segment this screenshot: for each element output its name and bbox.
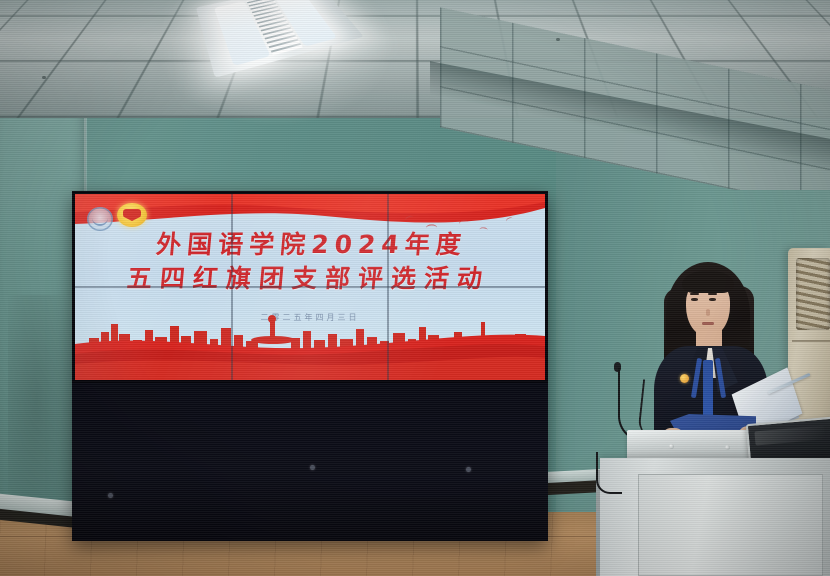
panel-indicator-led (108, 493, 113, 498)
ceiling-fixture-dot (42, 76, 46, 79)
video-wall[interactable]: 外国语学院2024年度 五四红旗团支部评选活动 二零二五年四月三日 (72, 191, 548, 541)
panel-indicator-led (310, 465, 315, 470)
lapel-pin-icon (680, 374, 689, 383)
lanyard (703, 360, 713, 422)
eyebrow-left (690, 293, 699, 295)
podium-body[interactable] (600, 458, 830, 576)
panel-indicator-led (466, 467, 471, 472)
ac-vent-grille-icon (796, 258, 830, 330)
power-cable (596, 452, 622, 494)
communist-youth-league-emblem-icon (117, 203, 147, 227)
nose (706, 309, 710, 316)
bezel-seam-horizontal (75, 286, 545, 288)
slide-title-line2: 五四红旗团支部评选活动 (75, 262, 545, 296)
bird-icon (459, 220, 468, 227)
eye-right (709, 298, 716, 301)
ceiling-area (0, 0, 830, 190)
ac-panel-seam (792, 340, 830, 342)
video-wall-active-display[interactable]: 外国语学院2024年度 五四红旗团支部评选活动 二零二五年四月三日 (75, 194, 545, 380)
eye-left (691, 298, 698, 301)
ceiling-fixture-dot (556, 38, 560, 41)
podium-front-panel (638, 474, 823, 576)
eyebrow-right (708, 293, 717, 295)
video-wall-inactive-panels[interactable] (72, 383, 548, 541)
screenshot-root: 外国语学院2024年度 五四红旗团支部评选活动 二零二五年四月三日 (0, 0, 830, 576)
slide-bottom-red-wave (75, 324, 545, 380)
hair-fringe (682, 271, 734, 293)
slide-title-line1: 外国语学院2024年度 (75, 228, 545, 262)
mouth (702, 322, 714, 325)
